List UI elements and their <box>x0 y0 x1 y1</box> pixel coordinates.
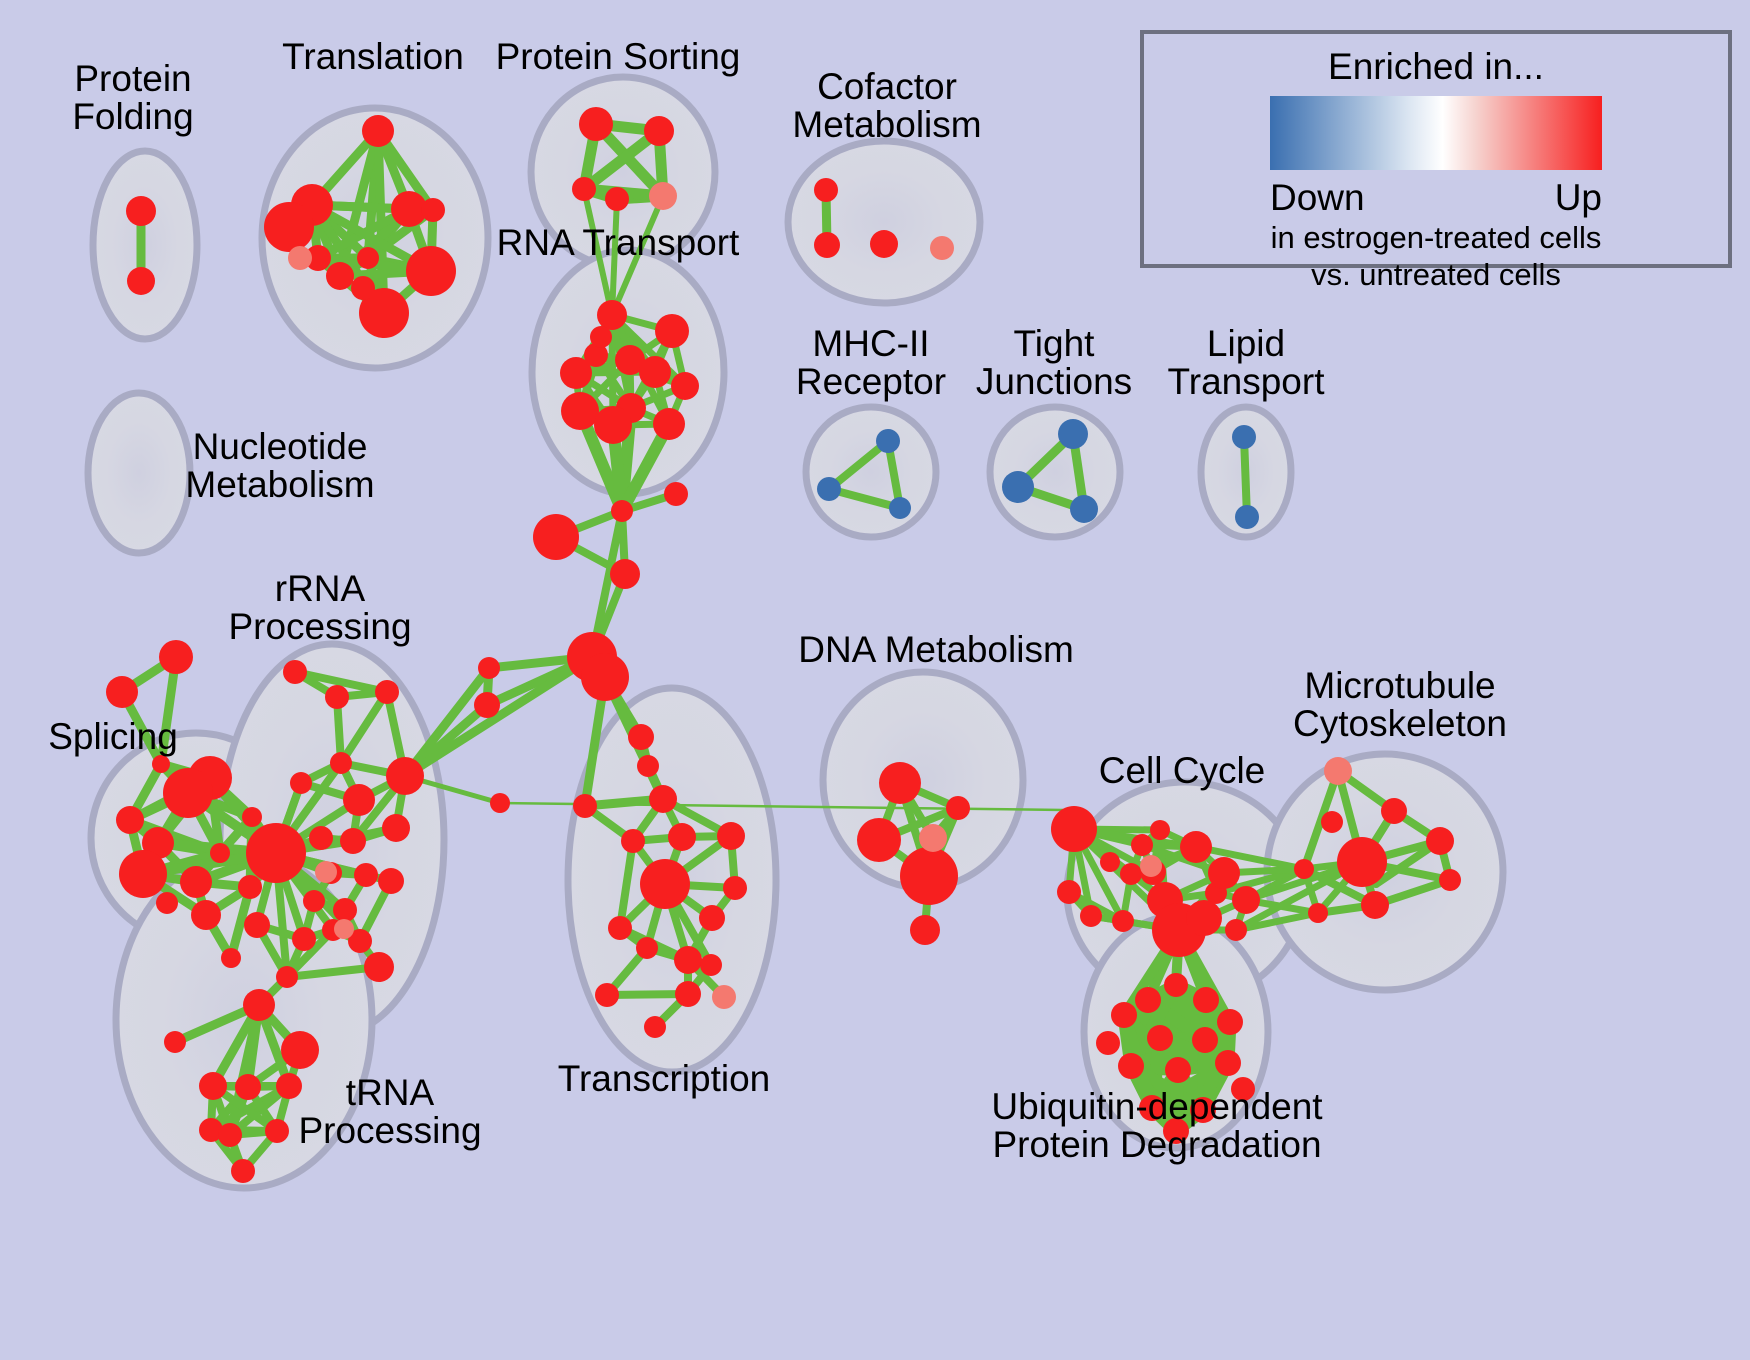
cluster-label-trna-processing: tRNA Processing <box>298 1074 481 1151</box>
cluster-label-cell-cycle: Cell Cycle <box>1099 752 1266 790</box>
cluster-label-cofactor-metabolism: Cofactor Metabolism <box>792 68 981 145</box>
cluster-label-tight-junctions: Tight Junctions <box>976 325 1132 402</box>
cluster-label-protein-folding: Protein Folding <box>72 60 193 137</box>
cluster-label-nucleotide-metabolism: Nucleotide Metabolism <box>185 428 374 505</box>
node-group-spine <box>474 482 688 813</box>
cluster-label-lipid-transport: Lipid Transport <box>1168 325 1325 402</box>
legend-high-label: Up <box>1555 177 1602 219</box>
color-ramp <box>1270 96 1602 170</box>
cluster-label-protein-sorting: Protein Sorting <box>496 38 741 76</box>
cluster-label-splicing: Splicing <box>48 718 178 756</box>
legend-title: Enriched in... <box>1328 46 1544 88</box>
cluster-label-dna-metabolism: DNA Metabolism <box>798 631 1074 669</box>
cluster-halo-mhcii <box>806 407 936 537</box>
legend-box: Enriched in... Down Up in estrogen-treat… <box>1140 30 1732 268</box>
cluster-label-rna-transport: RNA Transport <box>497 224 740 262</box>
cluster-label-ubiquitin-degradation: Ubiquitin-dependent Protein Degradation <box>991 1088 1322 1165</box>
cluster-label-mhcii-receptor: MHC-II Receptor <box>796 325 946 402</box>
cluster-halo-cofactor <box>788 141 980 303</box>
cluster-halo-nucleotide <box>88 393 190 553</box>
legend-endpoints: Down Up <box>1270 177 1602 219</box>
enrichment-map-figure: Protein Folding Translation Protein Sort… <box>0 0 1750 1360</box>
cluster-label-rrna-processing: rRNA Processing <box>228 570 411 647</box>
cluster-label-translation: Translation <box>282 38 464 76</box>
legend-subtitle-line2: vs. untreated cells <box>1311 258 1561 293</box>
legend-subtitle-line1: in estrogen-treated cells <box>1271 221 1602 256</box>
cluster-label-microtubule-cytoskeleton: Microtubule Cytoskeleton <box>1293 667 1507 744</box>
color-ramp-wrap: Down Up <box>1270 96 1602 219</box>
legend-low-label: Down <box>1270 177 1365 219</box>
cluster-halo-tight-junctions <box>990 407 1120 537</box>
cluster-label-transcription: Transcription <box>558 1060 770 1098</box>
